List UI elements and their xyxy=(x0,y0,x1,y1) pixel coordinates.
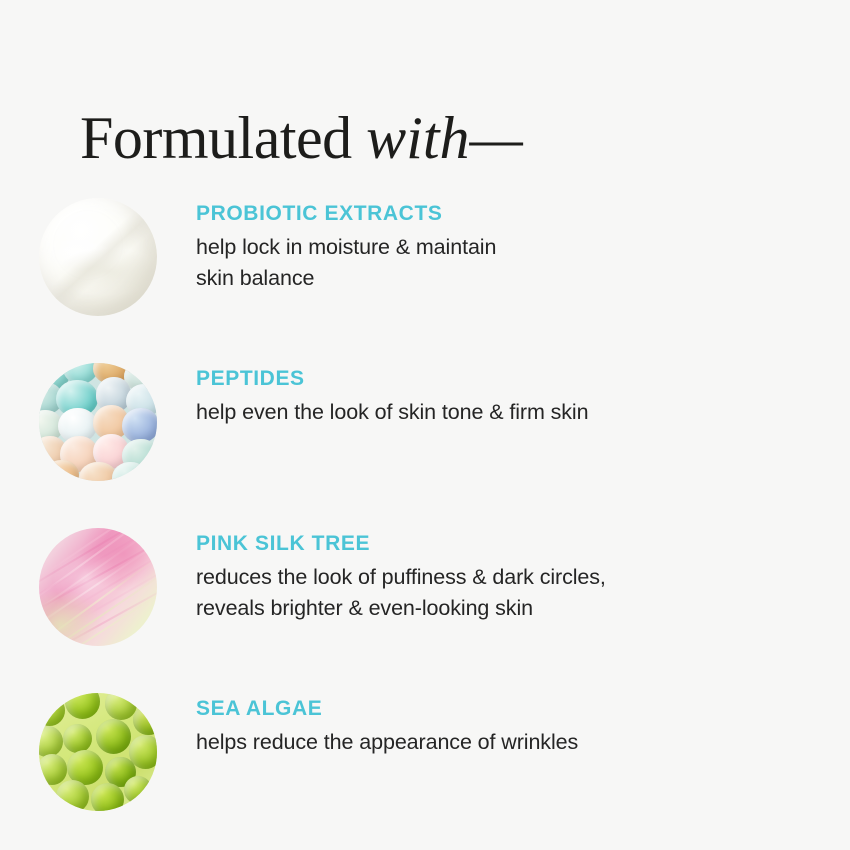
list-item: SEA ALGAE helps reduce the appearance of… xyxy=(0,677,850,842)
ingredient-description: help even the look of skin tone & firm s… xyxy=(196,397,588,428)
ingredient-text: PEPTIDES help even the look of skin tone… xyxy=(196,347,588,428)
ingredient-name: PROBIOTIC EXTRACTS xyxy=(196,202,496,225)
ingredients-infographic: Formulated with— PROBIOTIC EXTRACTS help… xyxy=(0,0,850,850)
ingredient-description: help lock in moisture & maintain skin ba… xyxy=(196,232,496,293)
description-line: help lock in moisture & maintain xyxy=(196,232,496,263)
multicolor-pebbles-swatch xyxy=(39,363,157,481)
swatch-container xyxy=(0,512,196,646)
list-item: PROBIOTIC EXTRACTS help lock in moisture… xyxy=(0,182,850,347)
cream-sphere-swatch xyxy=(39,198,157,316)
description-line: helps reduce the appearance of wrinkles xyxy=(196,727,578,758)
ingredient-list: PROBIOTIC EXTRACTS help lock in moisture… xyxy=(0,182,850,842)
description-line: skin balance xyxy=(196,263,496,294)
swatch-container xyxy=(0,347,196,481)
description-line: help even the look of skin tone & firm s… xyxy=(196,397,588,428)
page-title-italic: with— xyxy=(366,105,523,171)
page-title-roman: Formulated xyxy=(80,105,366,171)
page-title: Formulated with— xyxy=(80,108,523,168)
swatch-container xyxy=(0,182,196,316)
ingredient-description: reduces the look of puffiness & dark cir… xyxy=(196,562,606,623)
ingredient-name: SEA ALGAE xyxy=(196,697,578,720)
pink-filaments-swatch xyxy=(39,528,157,646)
list-item: PEPTIDES help even the look of skin tone… xyxy=(0,347,850,512)
ingredient-text: PINK SILK TREE reduces the look of puffi… xyxy=(196,512,606,624)
description-line: reveals brighter & even-looking skin xyxy=(196,593,606,624)
ingredient-description: helps reduce the appearance of wrinkles xyxy=(196,727,578,758)
swatch-container xyxy=(0,677,196,811)
green-beads-swatch xyxy=(39,693,157,811)
description-line: reduces the look of puffiness & dark cir… xyxy=(196,562,606,593)
ingredient-text: PROBIOTIC EXTRACTS help lock in moisture… xyxy=(196,182,496,294)
ingredient-name: PEPTIDES xyxy=(196,367,588,390)
ingredient-text: SEA ALGAE helps reduce the appearance of… xyxy=(196,677,578,758)
list-item: PINK SILK TREE reduces the look of puffi… xyxy=(0,512,850,677)
ingredient-name: PINK SILK TREE xyxy=(196,532,606,555)
